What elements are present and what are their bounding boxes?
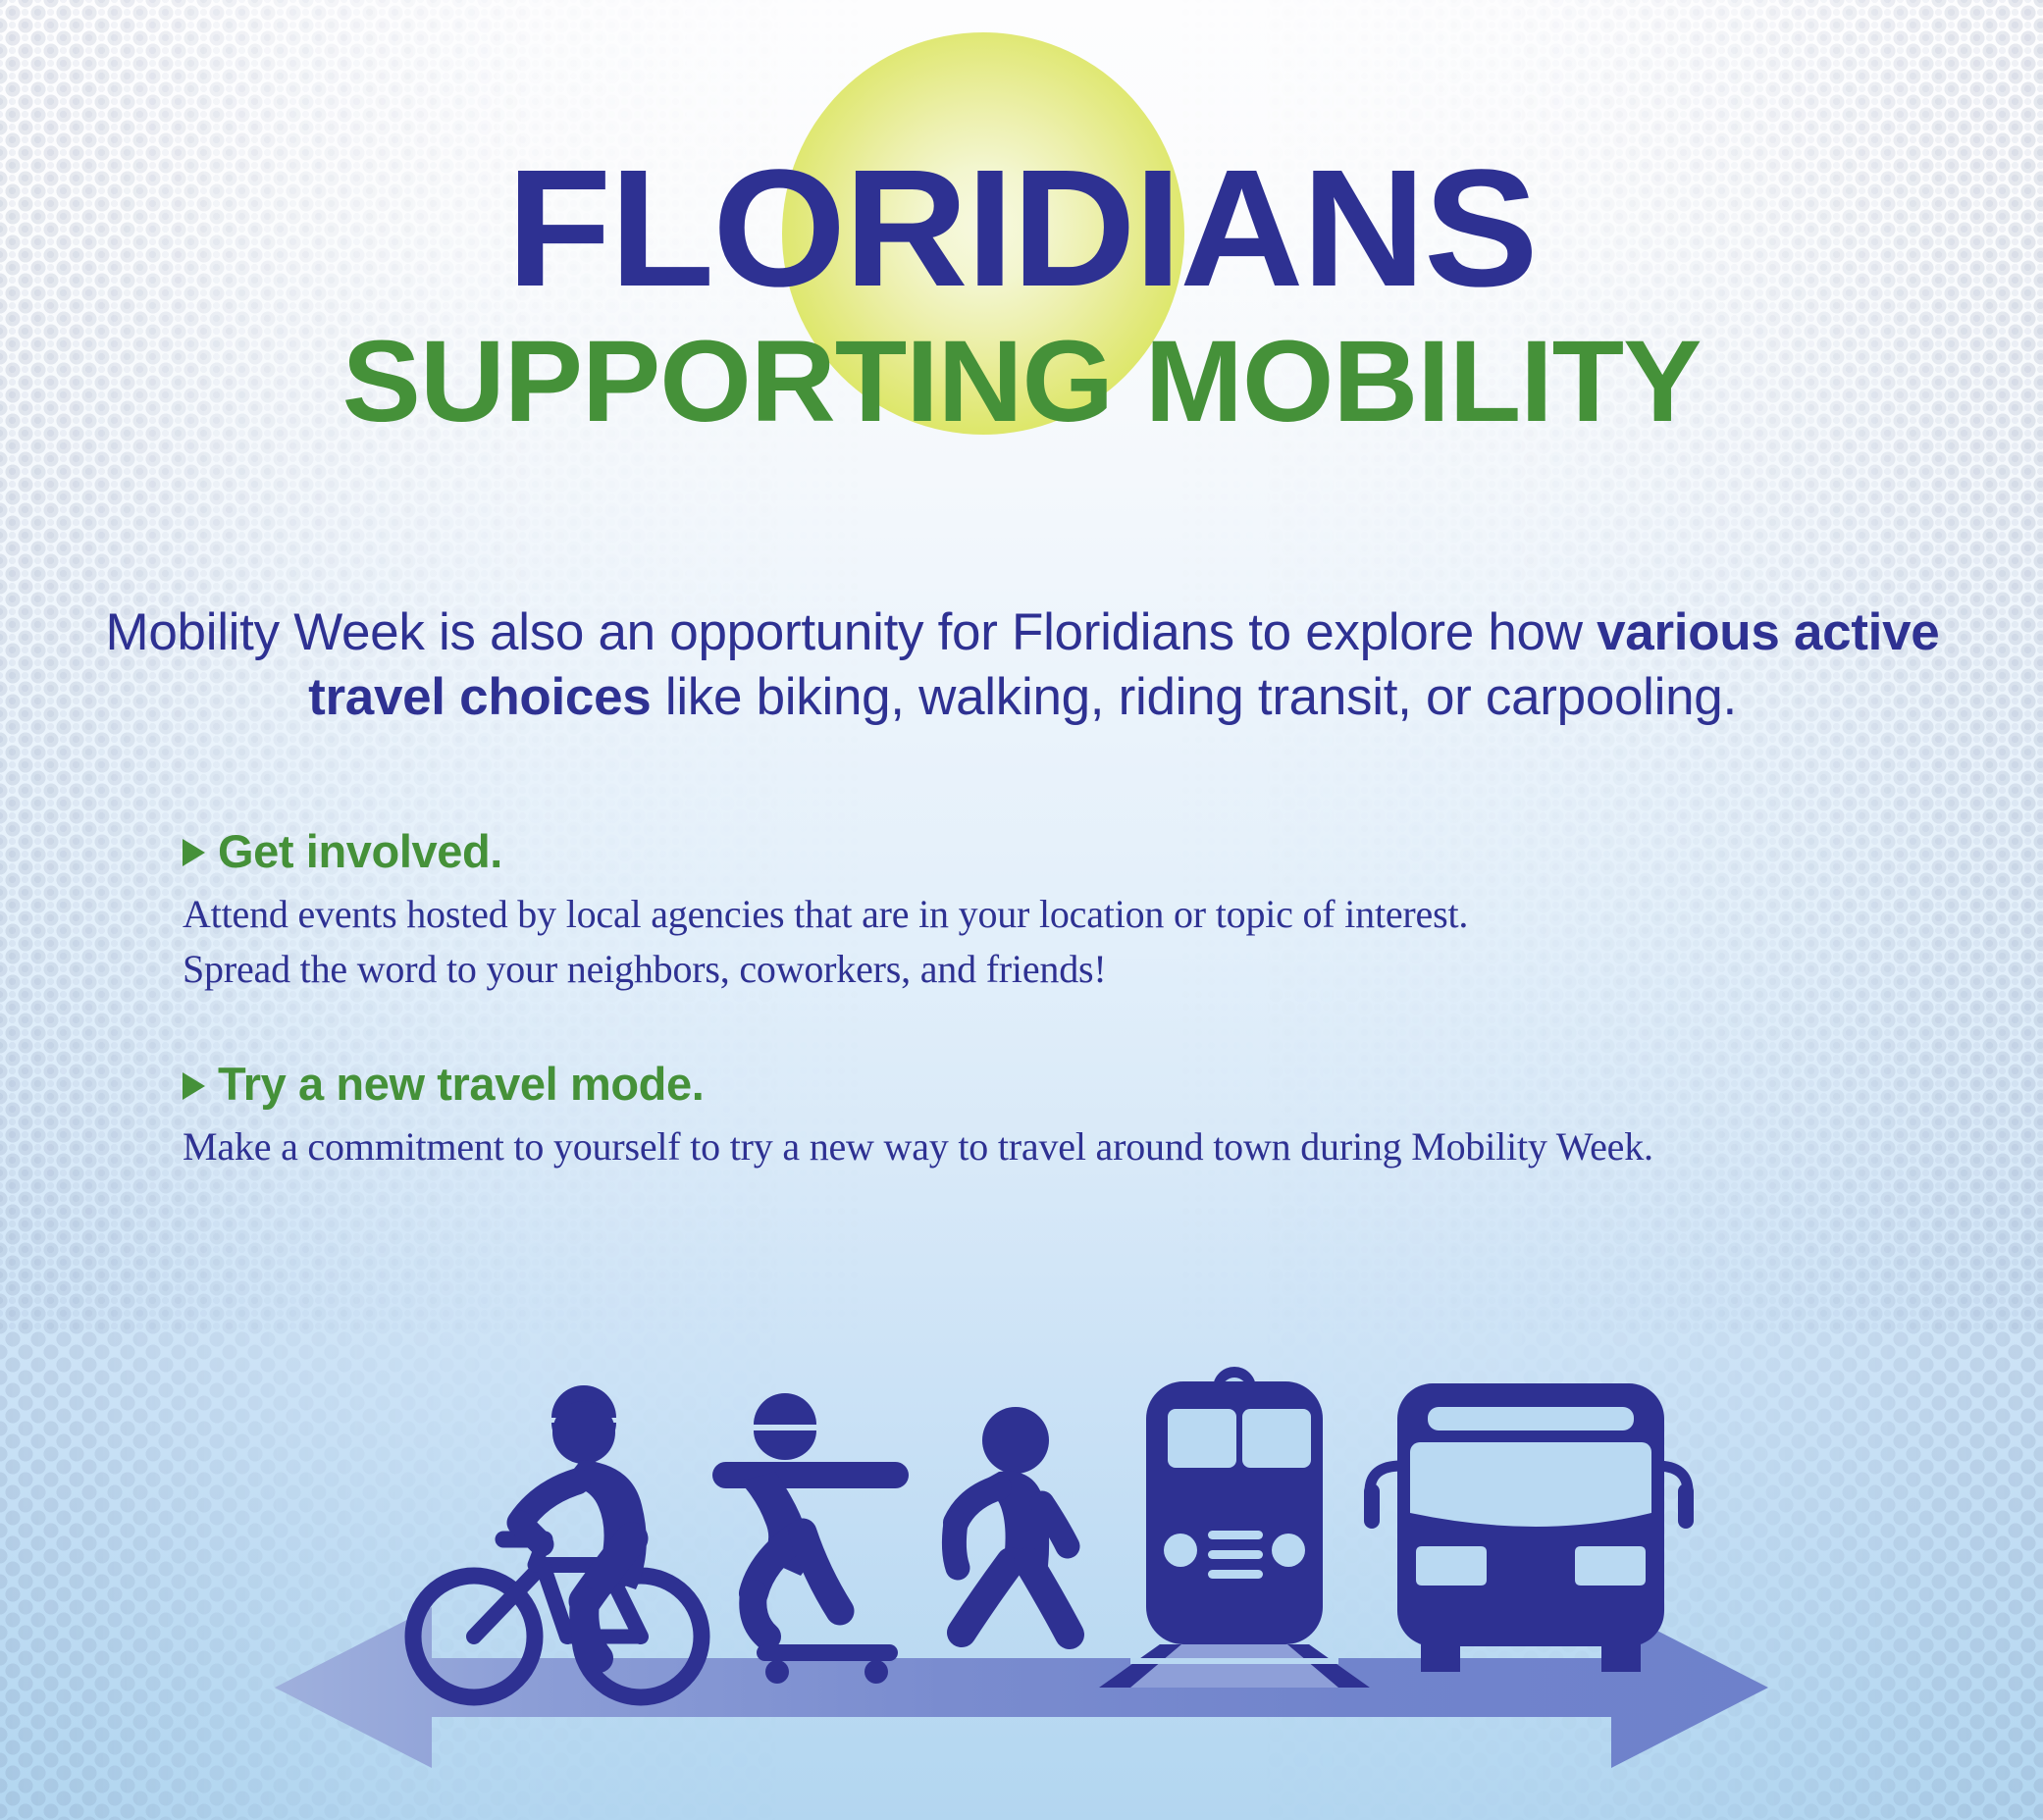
- bus-front-icon: [1364, 1383, 1694, 1672]
- train-front-icon: [1099, 1367, 1370, 1688]
- pedestrian-walking-icon: [954, 1407, 1070, 1635]
- page-subtitle: SUPPORTING MOBILITY: [0, 324, 2043, 440]
- triangle-right-icon: [183, 839, 205, 866]
- section-body: Make a commitment to yourself to try a n…: [183, 1119, 1949, 1175]
- section-body-line: Spread the word to your neighbors, cowor…: [183, 942, 1949, 998]
- headline-block: FLORIDIANS SUPPORTING MOBILITY: [0, 0, 2043, 440]
- bicycle-rider-icon: [413, 1385, 702, 1697]
- page-title: FLORIDIANS: [0, 145, 2043, 312]
- triangle-right-icon: [183, 1072, 205, 1100]
- sections-list: Get involved. Attend events hosted by lo…: [183, 826, 1949, 1175]
- infographic-poster: FLORIDIANS SUPPORTING MOBILITY Mobility …: [0, 0, 2043, 1820]
- section-heading-label: Get involved.: [218, 826, 502, 878]
- section-body: Attend events hosted by local agencies t…: [183, 887, 1949, 999]
- transport-modes-illustration: [0, 1364, 2043, 1820]
- section-heading-label: Try a new travel mode.: [218, 1059, 704, 1111]
- section-body-line: Attend events hosted by local agencies t…: [183, 887, 1949, 943]
- intro-text-part1: Mobility Week is also an opportunity for…: [106, 603, 1598, 661]
- section-body-line: Make a commitment to yourself to try a n…: [183, 1119, 1949, 1175]
- skateboarder-icon: [712, 1393, 909, 1684]
- intro-text-part2: like biking, walking, riding transit, or…: [651, 668, 1736, 726]
- section-heading-row: Try a new travel mode.: [183, 1059, 1949, 1111]
- section-heading-row: Get involved.: [183, 826, 1949, 878]
- section-try-new-mode: Try a new travel mode. Make a commitment…: [183, 1059, 1949, 1174]
- intro-paragraph: Mobility Week is also an opportunity for…: [90, 600, 1955, 729]
- section-get-involved: Get involved. Attend events hosted by lo…: [183, 826, 1949, 998]
